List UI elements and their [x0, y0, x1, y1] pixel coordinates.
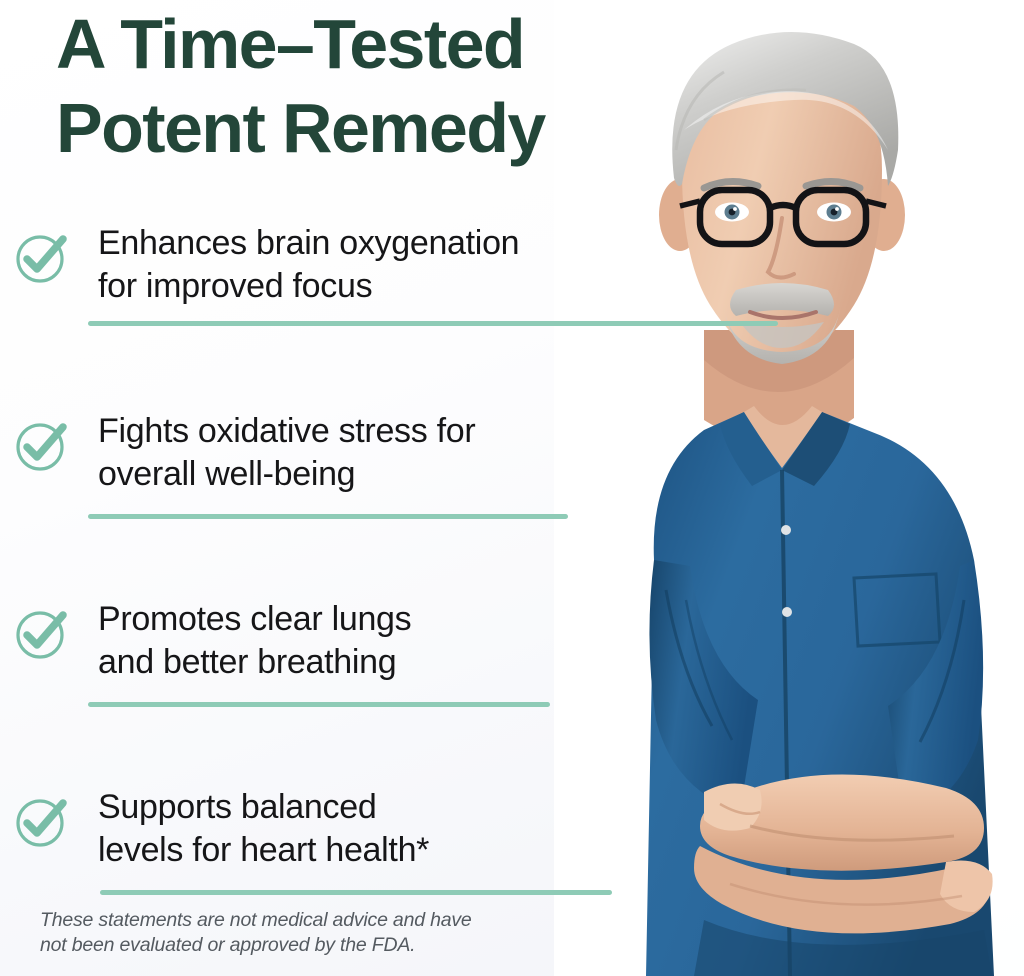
list-item: Promotes clear lungs and better breathin…	[0, 584, 1024, 772]
list-item-label: Supports balanced levels for heart healt…	[70, 772, 429, 872]
divider	[88, 514, 568, 519]
circle-check-icon	[14, 772, 70, 850]
page-title: A Time–Tested Potent Remedy	[56, 2, 676, 170]
list-item-label: Promotes clear lungs and better breathin…	[70, 584, 411, 684]
divider	[88, 321, 778, 326]
disclaimer-text: These statements are not medical advice …	[40, 908, 540, 958]
circle-check-icon	[14, 396, 70, 474]
headline-line-2: Potent Remedy	[56, 86, 676, 170]
divider	[88, 702, 550, 707]
circle-check-icon	[14, 208, 70, 286]
list-item: Enhances brain oxygenation for improved …	[0, 208, 1024, 396]
list-item-label: Fights oxidative stress for overall well…	[70, 396, 475, 496]
circle-check-icon	[14, 584, 70, 662]
promo-poster: A Time–Tested Potent Remedy Enhances bra…	[0, 0, 1024, 976]
headline-line-1: A Time–Tested	[56, 2, 676, 86]
divider	[100, 890, 612, 895]
list-item-label: Enhances brain oxygenation for improved …	[70, 208, 519, 308]
list-item: Fights oxidative stress for overall well…	[0, 396, 1024, 584]
benefits-list: Enhances brain oxygenation for improved …	[0, 208, 1024, 960]
